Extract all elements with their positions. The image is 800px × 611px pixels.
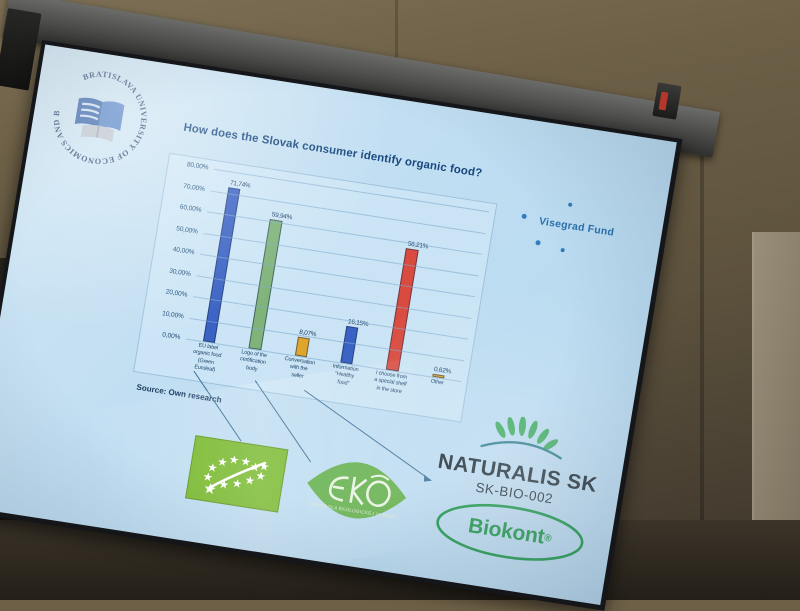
screen-vignette: [0, 45, 677, 605]
projector-screen: BRATISLAVA UNIVERSITY OF ECONOMICS AND B…: [0, 40, 682, 611]
presentation-slide: BRATISLAVA UNIVERSITY OF ECONOMICS AND B…: [0, 45, 677, 605]
wall-panel-right: [752, 232, 800, 532]
